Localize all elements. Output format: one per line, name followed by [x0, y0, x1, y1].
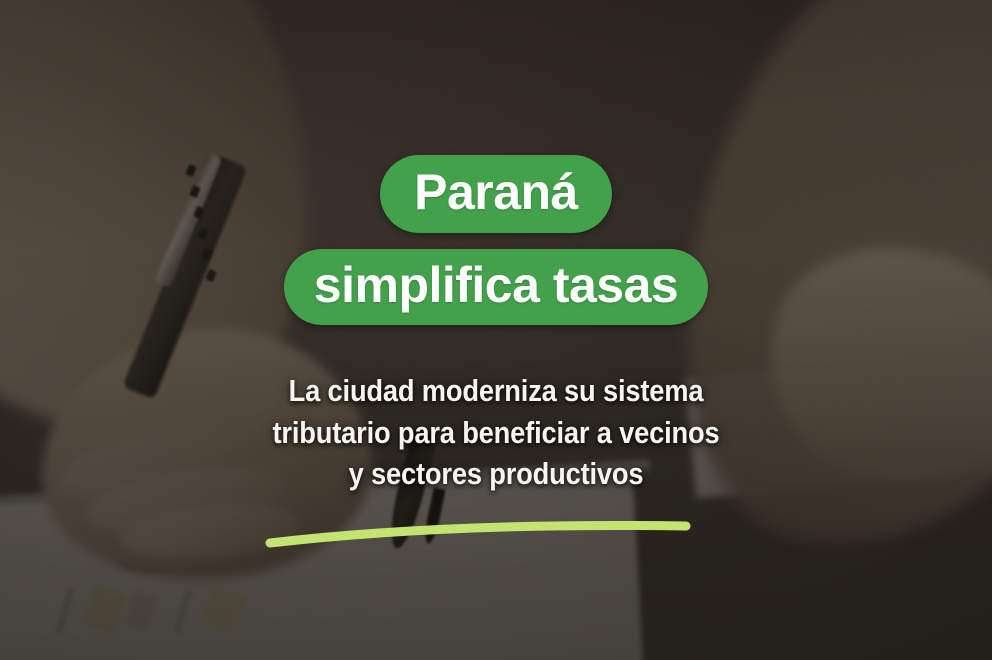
subtitle-block: La ciudad moderniza su sistema tributari… [223, 370, 769, 495]
content-overlay: Paraná simplifica tasas La ciudad modern… [0, 0, 992, 660]
title-block: Paraná simplifica tasas [284, 155, 708, 325]
subtitle-line-2: tributario para beneficiar a vecinos [223, 412, 769, 454]
subtitle-line-3: y sectores productivos [223, 453, 769, 495]
subtitle-line-1: La ciudad moderniza su sistema [223, 370, 769, 412]
accent-underline [266, 509, 726, 555]
underline-stroke-path [270, 525, 686, 543]
title-pill-primary: Paraná [380, 155, 612, 233]
title-pill-secondary: simplifica tasas [284, 249, 708, 325]
poster-card: Paraná simplifica tasas La ciudad modern… [0, 0, 992, 660]
